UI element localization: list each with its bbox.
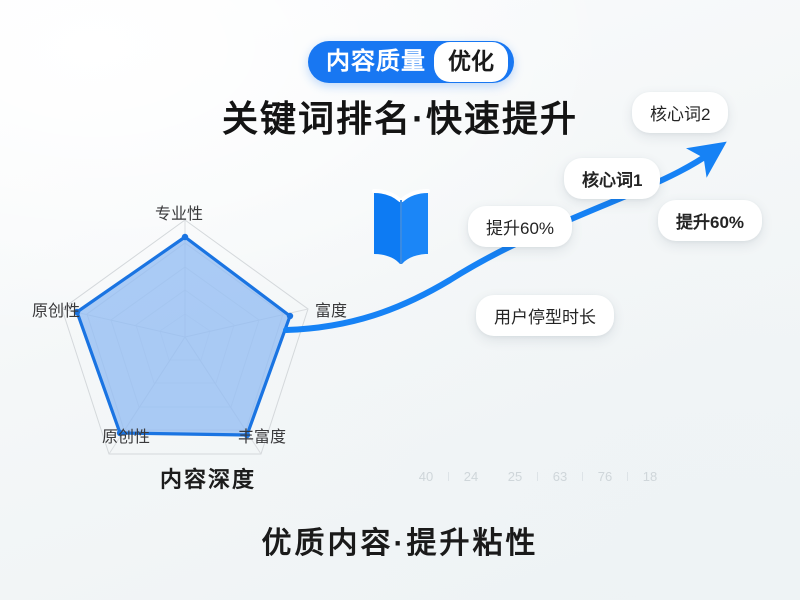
radar-axis-label-3: 原创性	[102, 423, 150, 447]
pill-dwell-time[interactable]: 用户停型时长	[476, 295, 614, 336]
pill-uplift-right[interactable]: 提升60%	[658, 200, 762, 241]
scale-value-5: 18	[628, 469, 672, 484]
pill-core-keyword-2[interactable]: 核心词2	[632, 92, 728, 133]
status-badge-label: 内容质量	[308, 41, 434, 83]
footer-title: 优质内容·提升粘性	[0, 518, 800, 562]
poster-canvas: 内容质量 优化 关键词排名·快速提升	[0, 0, 800, 600]
scale-value-2: 25	[493, 469, 537, 484]
pill-uplift-left[interactable]: 提升60%	[468, 206, 572, 247]
pill-core-keyword-1[interactable]: 核心词1	[564, 158, 660, 199]
faint-scale-axis: 40 24 25 63 76 18	[404, 466, 794, 486]
status-badge[interactable]: 内容质量 优化	[308, 41, 514, 83]
status-badge-highlight: 优化	[434, 42, 508, 82]
scale-value-4: 76	[583, 469, 627, 484]
open-book-icon	[366, 182, 436, 272]
radar-axis-label-2: 丰富度	[238, 423, 286, 447]
content-depth-label: 内容深度	[160, 462, 256, 494]
scale-value-3: 63	[538, 469, 582, 484]
radar-axis-label-4: 原创性	[32, 297, 80, 321]
radar-series-content-depth	[74, 234, 293, 438]
scale-value-0: 40	[404, 469, 448, 484]
radar-axis-label-0: 专业性	[155, 200, 203, 224]
scale-value-1: 24	[449, 469, 493, 484]
